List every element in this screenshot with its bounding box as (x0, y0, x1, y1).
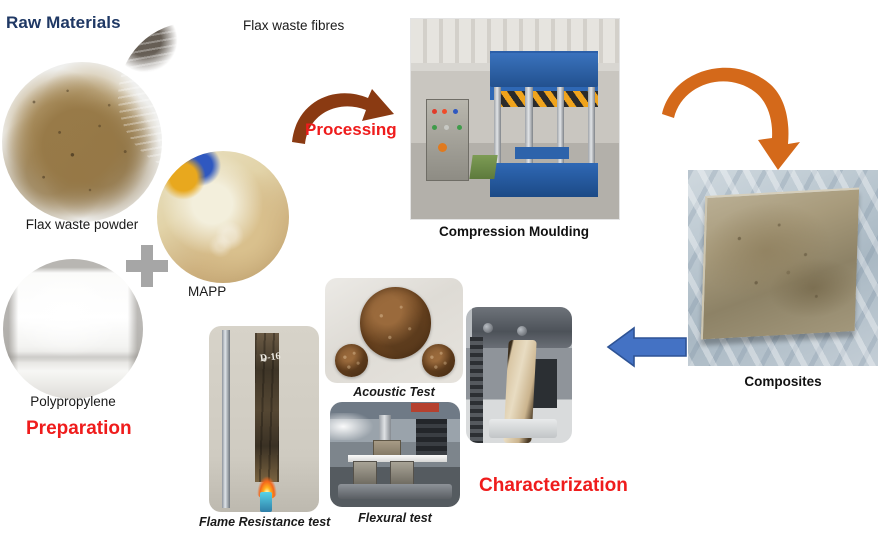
mapp-image (157, 151, 289, 283)
raw-materials-heading: Raw Materials (6, 13, 121, 33)
characterization-arrow-icon (606, 325, 688, 369)
flexural-test-label: Flexural test (330, 511, 460, 525)
acoustic-test-image (325, 278, 463, 383)
acoustic-test-label: Acoustic Test (325, 385, 463, 399)
flax-waste-fibres-image (118, 22, 268, 172)
flax-waste-fibres-label: Flax waste fibres (243, 18, 344, 33)
flax-waste-powder-label: Flax waste powder (2, 217, 162, 232)
transfer-arrow-icon (660, 58, 810, 176)
characterization-heading: Characterization (479, 475, 628, 497)
polypropylene-image (3, 259, 143, 399)
mapp-label: MAPP (188, 284, 318, 299)
tensile-test-image (466, 307, 572, 443)
flame-resistance-test-label: Flame Resistance test (199, 515, 329, 529)
flexural-test-image (330, 402, 460, 507)
flame-resistance-test-image: D-16 (209, 326, 319, 512)
compression-moulding-label: Compression Moulding (410, 224, 618, 239)
preparation-heading: Preparation (26, 418, 132, 440)
composites-label: Composites (688, 374, 878, 389)
polypropylene-label: Polypropylene (3, 394, 143, 409)
compression-moulding-image (410, 18, 620, 220)
processing-label: Processing (305, 120, 397, 140)
process-flow-diagram: Raw Materials Flax waste powder Flax was… (0, 0, 887, 540)
composites-image (688, 170, 878, 366)
